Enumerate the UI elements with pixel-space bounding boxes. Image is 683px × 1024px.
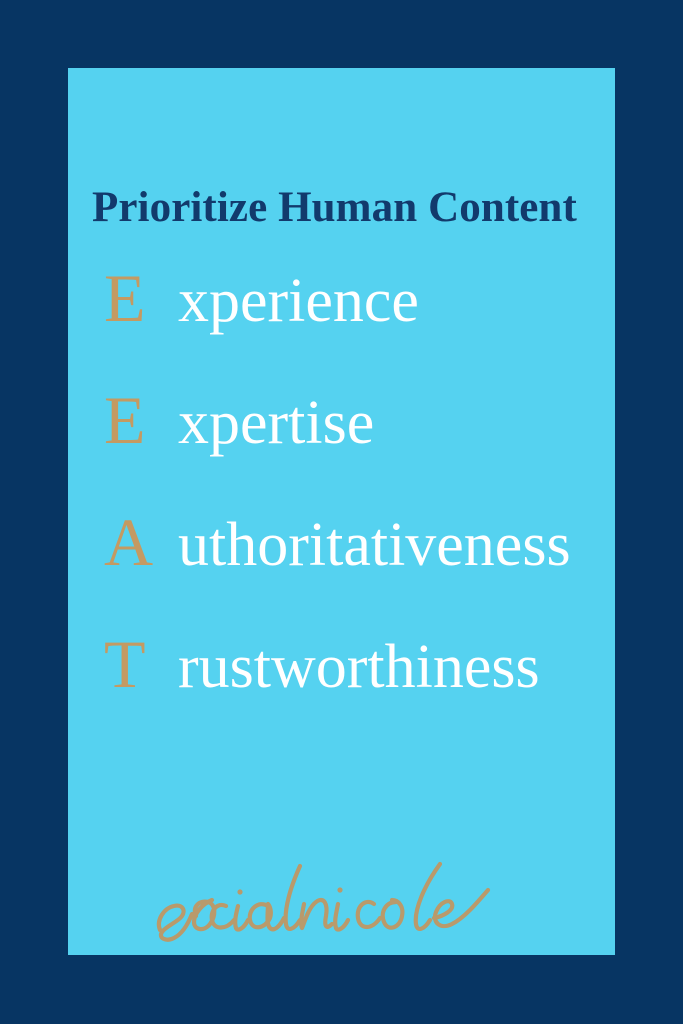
socialnicole-script-logo	[152, 858, 532, 954]
list-item: E xpertise	[68, 386, 615, 508]
acronym-initial-letter: A	[104, 508, 178, 576]
acronym-word-remainder: xpertise	[178, 392, 374, 454]
poster-inner-panel: Prioritize Human Content E xperience E x…	[68, 68, 615, 955]
list-item: T rustworthiness	[68, 630, 615, 698]
acronym-word-remainder: uthoritativeness	[178, 514, 571, 576]
eeat-acronym-list: E xperience E xpertise A uthoritativenes…	[68, 264, 615, 698]
acronym-word-remainder: rustworthiness	[178, 636, 540, 698]
brand-signature: socialnicole	[68, 858, 615, 954]
acronym-initial-letter: E	[104, 386, 178, 454]
list-item: E xperience	[68, 264, 615, 386]
page-title: Prioritize Human Content	[92, 185, 602, 230]
acronym-initial-letter: T	[104, 630, 178, 698]
poster-canvas: Prioritize Human Content E xperience E x…	[0, 0, 683, 1024]
acronym-initial-letter: E	[104, 264, 178, 332]
list-item: A uthoritativeness	[68, 508, 615, 630]
acronym-word-remainder: xperience	[178, 270, 419, 332]
